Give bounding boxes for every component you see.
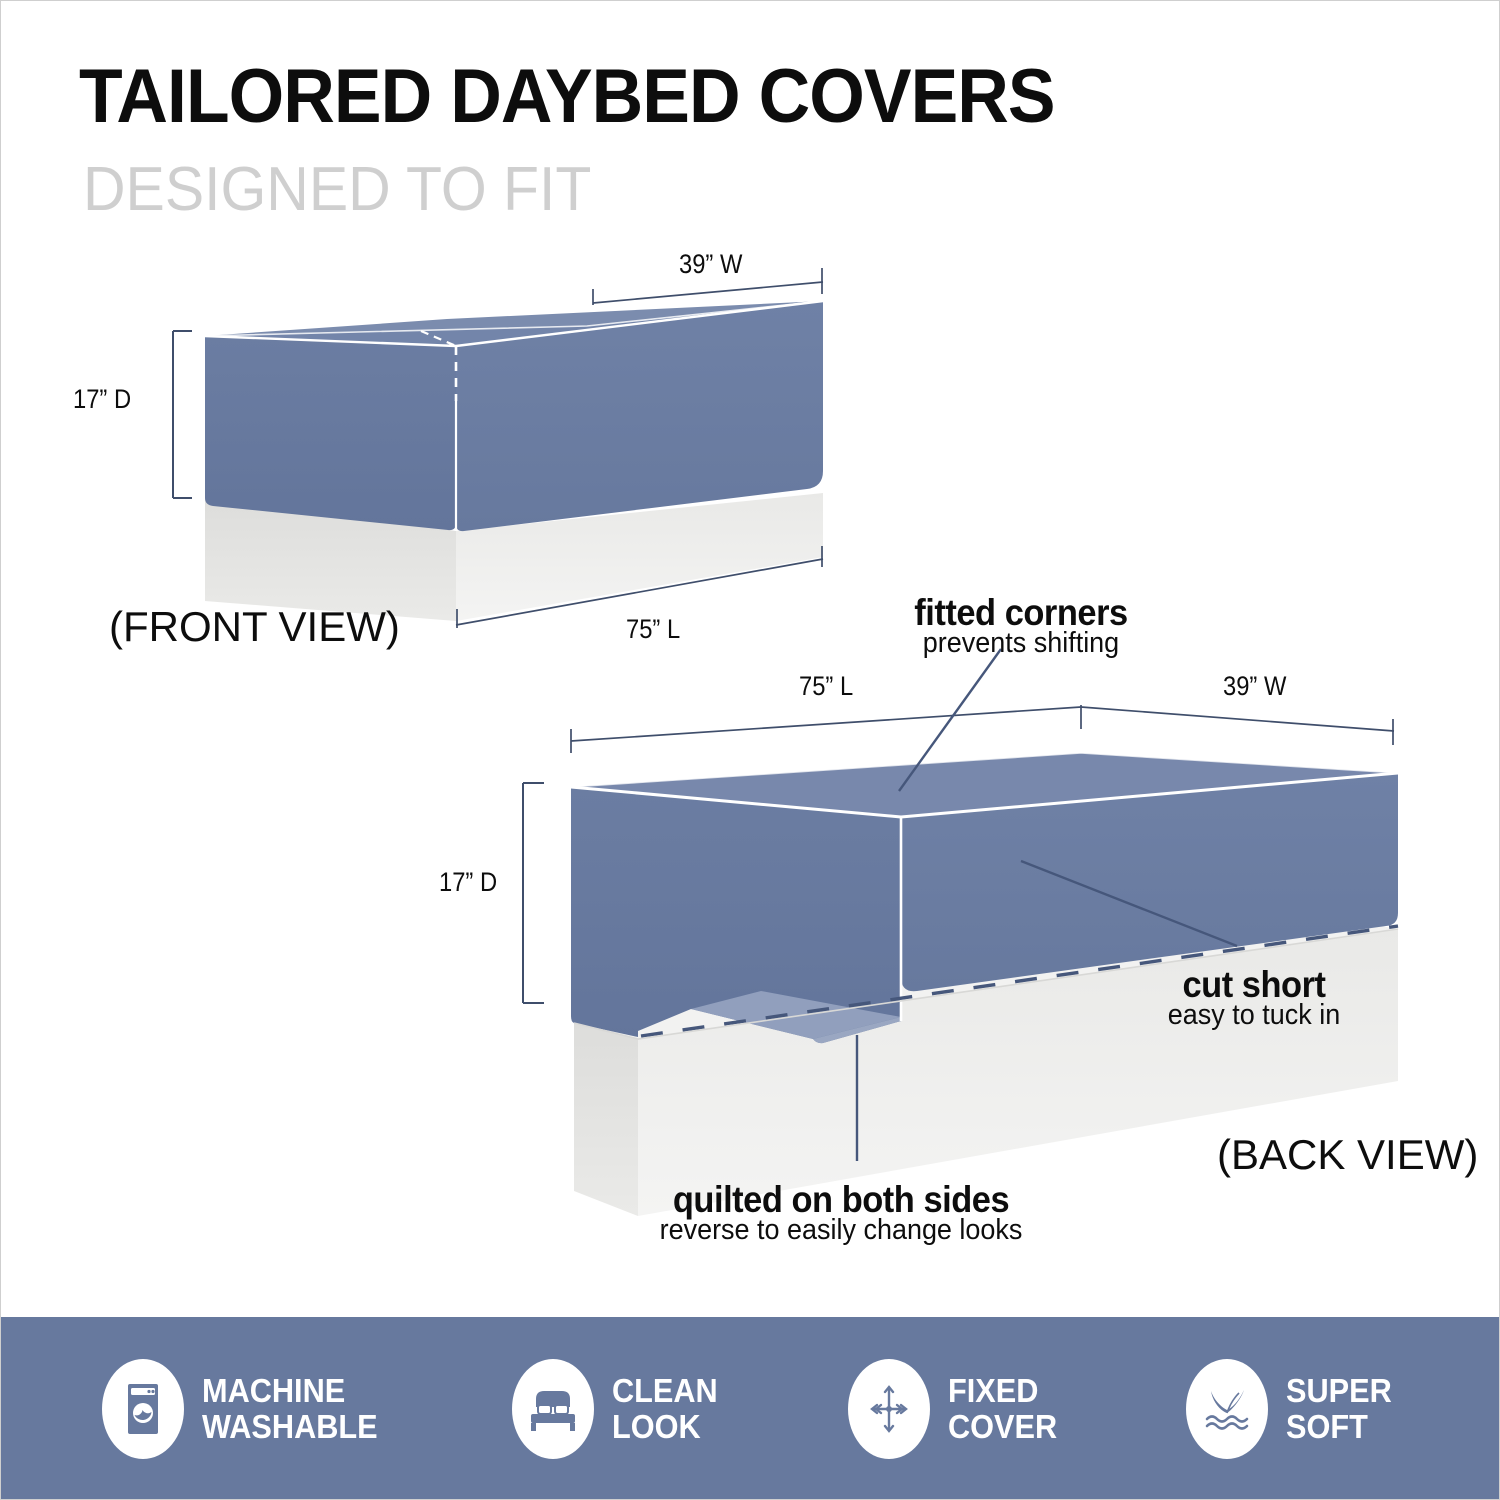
front-cover-top-face	[205, 301, 823, 336]
annotation-fitted-corners: fitted corners prevents shifting	[914, 594, 1127, 658]
leader-fitted-corners	[899, 649, 1001, 791]
bed-icon	[512, 1359, 594, 1459]
annotation-cut-short: cut short easy to tuck in	[1168, 966, 1340, 1030]
back-dim-length-label: 75” L	[799, 673, 853, 701]
front-dim-depth-bracket	[173, 331, 192, 498]
annotation-quilted-both-sides: quilted on both sides reverse to easily …	[660, 1181, 1023, 1245]
feature-clean-look-label: CLEAN LOOK	[612, 1373, 718, 1444]
back-cover-left-face	[571, 787, 901, 1043]
page-subtitle: DESIGNED TO FIT	[83, 159, 591, 221]
infographic-page: TAILORED DAYBED COVERS DESIGNED TO FIT	[0, 0, 1500, 1500]
back-dim-depth-bracket	[523, 783, 544, 1003]
feature-machine-washable: MACHINE WASHABLE	[102, 1359, 391, 1459]
feature-fixed-cover: FIXED COVER	[848, 1359, 1065, 1459]
feature-line-2: LOOK	[612, 1409, 718, 1445]
annotation-fitted-corners-subline: prevents shifting	[914, 629, 1127, 659]
back-view-caption: (BACK VIEW)	[1217, 1134, 1478, 1177]
front-cover-seam-right	[456, 301, 823, 346]
front-cover-seam-back	[205, 301, 823, 336]
feature-line-1: FIXED	[948, 1373, 1057, 1409]
front-cover-left-face	[205, 336, 456, 530]
back-cover-right-face	[901, 773, 1398, 991]
feature-line-1: SUPER	[1286, 1373, 1392, 1409]
front-cover-top-face-2	[205, 301, 823, 346]
front-cover-right-face	[456, 301, 823, 531]
back-dim-width-label: 39” W	[1223, 673, 1286, 701]
back-cover-fold-triangle	[691, 991, 901, 1039]
feature-line-2: COVER	[948, 1409, 1057, 1445]
annotation-quilted-subline: reverse to easily change looks	[660, 1216, 1023, 1246]
feature-line-2: WASHABLE	[202, 1409, 378, 1445]
front-view-caption: (FRONT VIEW)	[109, 606, 400, 649]
front-cover-top-dash	[421, 331, 456, 346]
front-mattress-right-face	[456, 493, 823, 621]
front-dim-depth-label: 17” D	[73, 386, 131, 414]
back-dim-top-brackets	[571, 705, 1394, 753]
front-dim-width-label: 39” W	[679, 251, 742, 279]
feature-bar: MACHINE WASHABLE CLEAN LOOK	[1, 1317, 1500, 1500]
back-cover-seam-right	[901, 773, 1398, 817]
diagram-artwork	[1, 1, 1500, 1500]
front-cover-seam-left	[205, 336, 456, 346]
feature-super-soft: SUPER SOFT	[1186, 1359, 1400, 1459]
page-title: TAILORED DAYBED COVERS	[79, 59, 1055, 135]
feather-waves-icon	[1186, 1359, 1268, 1459]
back-cover-top-face	[571, 753, 1398, 817]
front-dim-length-label: 75” L	[626, 616, 680, 644]
front-view-diagram	[173, 268, 823, 628]
feature-clean-look: CLEAN LOOK	[512, 1359, 726, 1459]
feature-super-soft-label: SUPER SOFT	[1286, 1373, 1392, 1444]
washing-machine-icon	[102, 1359, 184, 1459]
back-cover-seam-left	[571, 787, 901, 817]
annotation-cut-short-subline: easy to tuck in	[1168, 1001, 1340, 1031]
feature-fixed-cover-label: FIXED COVER	[948, 1373, 1057, 1444]
back-cover-seam-back	[571, 753, 1398, 787]
back-cover-fold-flap	[813, 1017, 901, 1043]
feature-line-1: CLEAN	[612, 1373, 718, 1409]
feature-line-2: SOFT	[1286, 1409, 1392, 1445]
four-arrows-icon	[848, 1359, 930, 1459]
back-mattress-left-face	[574, 1023, 638, 1216]
feature-machine-washable-label: MACHINE WASHABLE	[202, 1373, 378, 1444]
leader-cut-short	[1021, 861, 1237, 946]
feature-line-1: MACHINE	[202, 1373, 378, 1409]
back-dim-depth-label: 17” D	[439, 869, 497, 897]
